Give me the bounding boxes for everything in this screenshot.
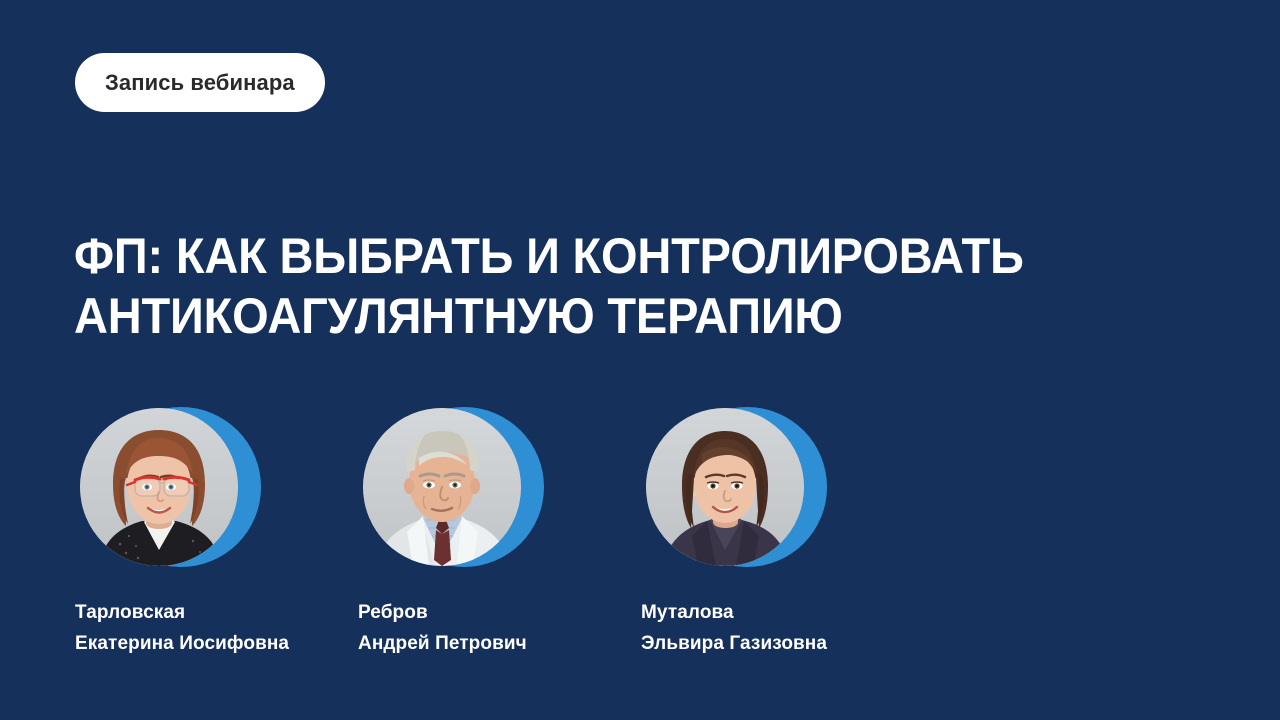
webinar-promo-slide: Запись вебинара ФП: КАК ВЫБРАТЬ И КОНТРО… — [0, 0, 1280, 720]
avatar-photo-1 — [80, 408, 238, 566]
avatar — [358, 405, 544, 569]
speaker-given-name: Андрей Петрович — [358, 628, 618, 659]
speaker-name: Тарловская Екатерина Иосифовна — [75, 597, 335, 659]
title-line-2: АНТИКОАГУЛЯНТНУЮ ТЕРАПИЮ — [74, 286, 1183, 346]
avatar — [641, 405, 827, 569]
speaker-given-name: Екатерина Иосифовна — [75, 628, 335, 659]
avatar-photo-3 — [646, 408, 804, 566]
speaker-given-name: Эльвира Газизовна — [641, 628, 901, 659]
avatar-photo-2 — [363, 408, 521, 566]
speaker-name: Ребров Андрей Петрович — [358, 597, 618, 659]
title-line-1: ФП: КАК ВЫБРАТЬ И КОНТРОЛИРОВАТЬ — [74, 226, 1183, 286]
speaker-surname: Ребров — [358, 597, 618, 628]
speaker-surname: Тарловская — [75, 597, 335, 628]
speaker-card: Муталова Эльвира Газизовна — [641, 405, 901, 659]
speaker-surname: Муталова — [641, 597, 901, 628]
webinar-recording-badge: Запись вебинара — [75, 53, 325, 112]
page-title: ФП: КАК ВЫБРАТЬ И КОНТРОЛИРОВАТЬ АНТИКОА… — [74, 226, 1183, 346]
badge-label: Запись вебинара — [105, 72, 295, 94]
speaker-card: Ребров Андрей Петрович — [358, 405, 618, 659]
avatar — [75, 405, 261, 569]
speaker-card: Тарловская Екатерина Иосифовна — [75, 405, 335, 659]
speaker-name: Муталова Эльвира Газизовна — [641, 597, 901, 659]
speaker-list: Тарловская Екатерина Иосифовна — [75, 405, 1205, 665]
